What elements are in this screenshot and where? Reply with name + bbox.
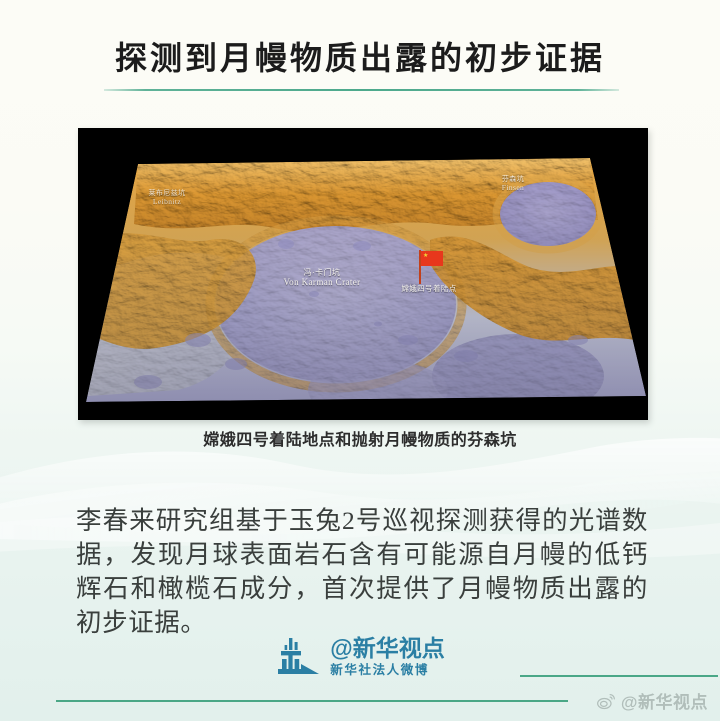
brand-footer: @新华视点 新华社法人微博 (0, 636, 720, 678)
poster-page: 探测到月幔物质出露的初步证据 (0, 0, 720, 721)
footer-rule-right (520, 675, 718, 677)
page-title-text: 探测到月幔物质出露的初步证据 (115, 42, 605, 76)
footer-rule-left (56, 700, 568, 702)
terrain-render (78, 128, 648, 420)
figure-caption: 嫦娥四号着陆地点和抛射月幔物质的芬森坑 (0, 426, 720, 450)
weibo-watermark-text: @新华视点 (621, 688, 708, 713)
title-underline (104, 89, 619, 91)
brand-name: @新华视点 (330, 637, 444, 660)
body-paragraph: 李春来研究组基于玉兔2号巡视探测获得的光谱数据，发现月球表面岩石含有可能源自月幔… (76, 504, 648, 641)
brand-subtitle: 新华社法人微博 (330, 664, 444, 677)
brand-text-block: @新华视点 新华社法人微博 (330, 637, 444, 677)
xinhua-logo-icon (275, 636, 321, 678)
page-title: 探测到月幔物质出露的初步证据 (0, 42, 720, 76)
lunar-terrain-figure: 莱布尼兹坑 Leibnitz 芬森坑 Finsen 冯·卡门坑 Von Karm… (78, 128, 648, 420)
weibo-watermark: @新华视点 (596, 688, 708, 713)
weibo-icon (596, 691, 616, 711)
